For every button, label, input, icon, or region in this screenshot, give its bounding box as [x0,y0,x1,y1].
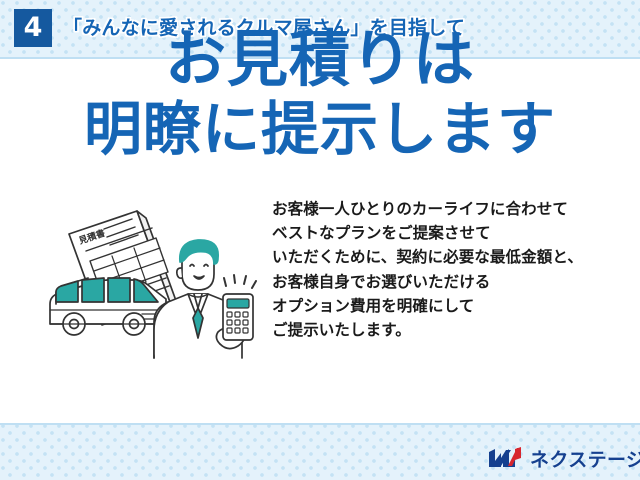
brand-name: ネクステージ [530,445,640,472]
promo-panel: 4 「みんなに愛されるクルマ屋さん」を目指して お見積りは 明瞭に提示します お… [0,0,640,480]
body-copy-line: いただくために、契約に必要な最低金額と、 [272,245,640,269]
sparkle-icon [224,275,256,288]
headline-line-1: お見積りは [0,28,640,93]
calculator-icon [223,294,253,340]
footer-divider-rule [0,423,640,425]
brand-logo: ネクステージ [488,443,640,473]
body-copy-line: お客様一人ひとりのカーライフに合わせて [272,197,640,221]
body-copy-line: お客様自身でお選びいただける [272,270,640,294]
headline-line-2: 明瞭に提示します [0,99,640,160]
nextage-n-mark [488,446,522,470]
sales-staff-illustration: 見積書 [42,198,270,360]
body-copy-line: ベストなプランをご提案させて [272,221,640,245]
van-icon [50,278,166,335]
headline: お見積りは 明瞭に提示します [0,28,640,160]
body-copy-line: オプション費用を明確にして [272,294,640,318]
body-copy-line: ご提示いたします。 [272,318,640,342]
body-copy: お客様一人ひとりのカーライフに合わせて ベストなプランをご提案させて いただくた… [272,197,640,342]
